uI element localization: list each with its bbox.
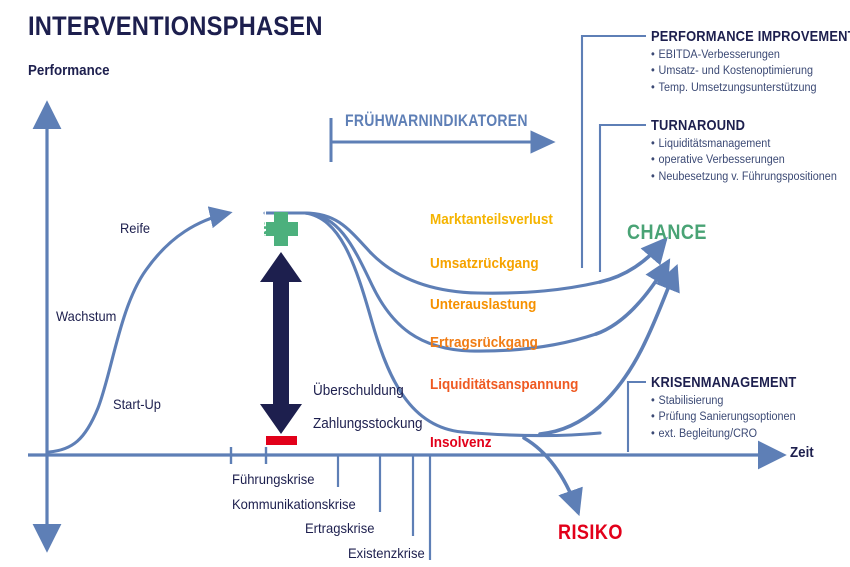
symptom-marktanteilsverlust: Marktanteilsverlust (430, 213, 553, 228)
outcome-risiko: RISIKO (558, 522, 623, 544)
handlungsspielraum-arrow (260, 252, 302, 434)
info-box-list: Stabilisierung Prüfung Sanierungsoptione… (651, 393, 820, 442)
recovery-arrow-upper (600, 240, 665, 282)
recovery-arrow-middle (596, 262, 668, 334)
crisis-stage-ertragskrise: Ertragskrise (305, 521, 374, 536)
crisis-stage-fuehrungskrise: Führungskrise (232, 472, 314, 487)
legal-state-zahlungsstockung: Zahlungsstockung (313, 417, 422, 432)
info-box-title: KRISENMANAGEMENT (651, 374, 796, 391)
minus-marker (266, 436, 297, 445)
y-axis-label: Performance (28, 64, 110, 79)
info-box-list: Liquiditätsmanagement operative Verbesse… (651, 136, 849, 185)
outcome-chance: CHANCE (627, 222, 707, 244)
crisis-stage-existenzkrise: Existenzkrise (348, 546, 425, 561)
plus-marker (264, 212, 298, 246)
list-item: operative Verbesserungen (651, 152, 837, 168)
symptom-unterauslastung: Unterauslastung (430, 298, 536, 313)
diagram-canvas: INTERVENTIONSPHASEN Performance Zeit Sta… (0, 0, 850, 567)
phase-label-wachstum: Wachstum (56, 309, 116, 324)
phase-label-reife: Reife (120, 221, 150, 236)
info-box-title: TURNAROUND (651, 117, 821, 134)
symptom-insolvenz: Insolvenz (430, 436, 491, 451)
crisis-stage-kommunikationskrise: Kommunikationskrise (232, 497, 356, 512)
info-box-krisenmanagement: KRISENMANAGEMENT Stabilisierung Prüfung … (651, 374, 820, 442)
connector-krisenmanagement (628, 382, 646, 452)
symptom-ertragsrueckgang: Ertragsrückgang (430, 336, 538, 351)
legal-state-ueberschuldung: Überschuldung (313, 384, 404, 399)
list-item: Umsatz- und Kostenoptimierung (651, 63, 850, 79)
symptom-umsatzrueckgang: Umsatzrückgang (430, 257, 539, 272)
handlungsspielraum-label: HANDLUNGSSPIELRAUM (255, 117, 269, 255)
list-item: Neubesetzung v. Führungspositionen (651, 169, 837, 185)
list-item: Prüfung Sanierungsoptionen (651, 409, 810, 425)
lifecycle-growth-curve (49, 213, 229, 452)
list-item: Liquiditätsmanagement (651, 136, 837, 152)
x-axis-label: Zeit (790, 446, 814, 461)
info-box-list: EBITDA-Verbesserungen Umsatz- und Kosten… (651, 47, 850, 96)
page-title: INTERVENTIONSPHASEN (28, 12, 323, 40)
info-box-performance-improvement: PERFORMANCE IMPROVEMENT EBITDA-Verbesser… (651, 28, 850, 96)
decline-curve-medium (305, 213, 596, 351)
list-item: Stabilisierung (651, 393, 810, 409)
risk-arrow (524, 438, 578, 512)
list-item: Temp. Umsetzungsunterstützung (651, 80, 850, 96)
symptom-liquiditaetsanspannung: Liquiditätsanspannung (430, 378, 578, 393)
connector-turnaround (600, 125, 646, 272)
list-item: EBITDA-Verbesserungen (651, 47, 850, 63)
list-item: ext. Begleitung/CRO (651, 426, 810, 442)
info-box-title: PERFORMANCE IMPROVEMENT (651, 28, 850, 45)
info-box-turnaround: TURNAROUND Liquiditätsmanagement operati… (651, 117, 849, 185)
phase-label-start-up: Start-Up (113, 397, 161, 412)
decline-curve-deep (305, 213, 600, 436)
early-warning-label: FRÜHWARNINDIKATOREN (345, 113, 528, 130)
